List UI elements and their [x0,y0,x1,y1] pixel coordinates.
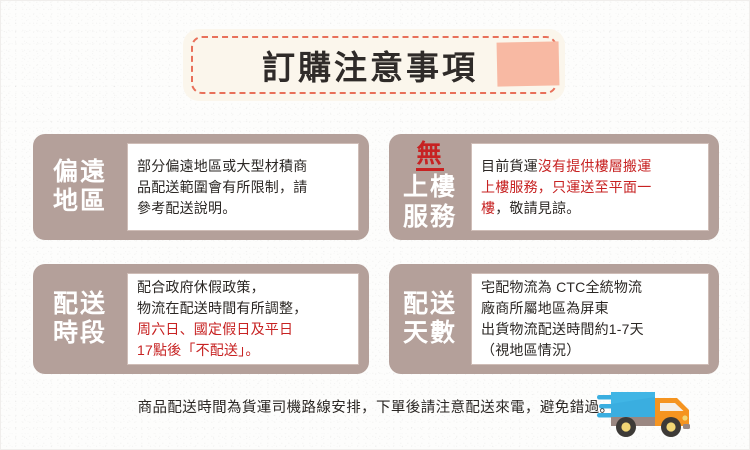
notice-card-no-upstairs-service: 無上樓服務 目前貨運沒有提供樓層搬運上樓服務，只運送至平面一樓，敬請見諒。 [389,134,719,240]
card-label-line: 偏遠 [53,158,107,188]
delivery-truck-icon [597,384,701,440]
card-body-line: （視地區情況） [481,340,699,361]
card-label-line: 地區 [53,187,107,217]
page-title: 訂購注意事項 [183,29,565,101]
body-text: 部分偏遠地區或大型材積商 [137,158,307,174]
notice-card-remote-area: 偏遠地區 部分偏遠地區或大型材積商品配送範圍會有所限制，請參考配送說明。 [33,134,369,240]
card-label-line: 配送 [403,290,457,320]
highlighted-text: 上樓服務，只運送至平面一 [481,179,651,195]
order-notice-infographic: 訂購注意事項 偏遠地區 部分偏遠地區或大型材積商品配送範圍會有所限制，請參考配送… [0,0,750,450]
notice-card-delivery-days: 配送天數 宅配物流為 CTC全統物流廠商所屬地區為屏東出貨物流配送時間約1-7天… [389,264,719,374]
card-body: 宅配物流為 CTC全統物流廠商所屬地區為屏東出貨物流配送時間約1-7天（視地區情… [471,273,709,365]
card-label-line: 天數 [403,319,457,349]
card-body-line: 上樓服務，只運送至平面一 [481,177,699,198]
card-label-line: 時段 [53,319,107,349]
body-text: 廠商所屬地區為屏東 [481,300,609,316]
highlighted-text: 樓 [481,200,495,216]
card-body: 目前貨運沒有提供樓層搬運上樓服務，只運送至平面一樓，敬請見諒。 [471,143,709,231]
highlighted-text: 周六日、國定假日及平日 [137,321,293,337]
card-body-line: 宅配物流為 CTC全統物流 [481,277,699,298]
card-label: 偏遠地區 [33,158,127,217]
body-text: 物流在配送時間有所調整， [137,300,307,316]
card-body-line: 17點後「不配送」。 [137,340,349,361]
card-body-line: 參考配送說明。 [137,198,349,219]
card-body: 配合政府休假政策，物流在配送時間有所調整，周六日、國定假日及平日17點後「不配送… [127,273,359,365]
card-body-line: 出貨物流配送時間約1-7天 [481,319,699,340]
card-body-line: 部分偏遠地區或大型材積商 [137,156,349,177]
body-text: 目前貨運 [481,158,538,174]
card-body: 部分偏遠地區或大型材積商品配送範圍會有所限制，請參考配送說明。 [127,143,359,231]
card-label-accent-line: 無 [416,142,443,171]
body-text: 品配送範圍會有所限制，請 [137,179,307,195]
card-label-line: 服務 [403,203,457,233]
footer-text: 商品配送時間為貨運司機路線安排，下單後請注意配送來電，避免錯過。 [138,396,615,417]
body-text: ，敬請見諒。 [495,200,580,216]
body-text: 宅配物流為 CTC全統物流 [481,279,642,295]
card-body-line: 配合政府休假政策， [137,277,349,298]
card-label: 無上樓服務 [389,142,471,232]
body-text: （視地區情況） [481,342,580,358]
card-label-line: 上樓 [403,173,457,203]
card-body-line: 物流在配送時間有所調整， [137,298,349,319]
card-body-line: 目前貨運沒有提供樓層搬運 [481,156,699,177]
card-body-line: 樓，敬請見諒。 [481,198,699,219]
body-text: 參考配送說明。 [137,200,236,216]
highlighted-text: 17點後「不配送」。 [137,342,260,358]
card-label: 配送天數 [389,290,471,349]
highlighted-text: 沒有提供樓層搬運 [538,158,652,174]
card-body-line: 品配送範圍會有所限制，請 [137,177,349,198]
card-body-line: 周六日、國定假日及平日 [137,319,349,340]
card-body-line: 廠商所屬地區為屏東 [481,298,699,319]
card-label-line: 配送 [53,290,107,320]
body-text: 配合政府休假政策， [137,279,265,295]
notice-card-delivery-time-slot: 配送時段 配合政府休假政策，物流在配送時間有所調整，周六日、國定假日及平日17點… [33,264,369,374]
body-text: 出貨物流配送時間約1-7天 [481,321,644,337]
title-banner: 訂購注意事項 [183,29,565,101]
card-label: 配送時段 [33,290,127,349]
